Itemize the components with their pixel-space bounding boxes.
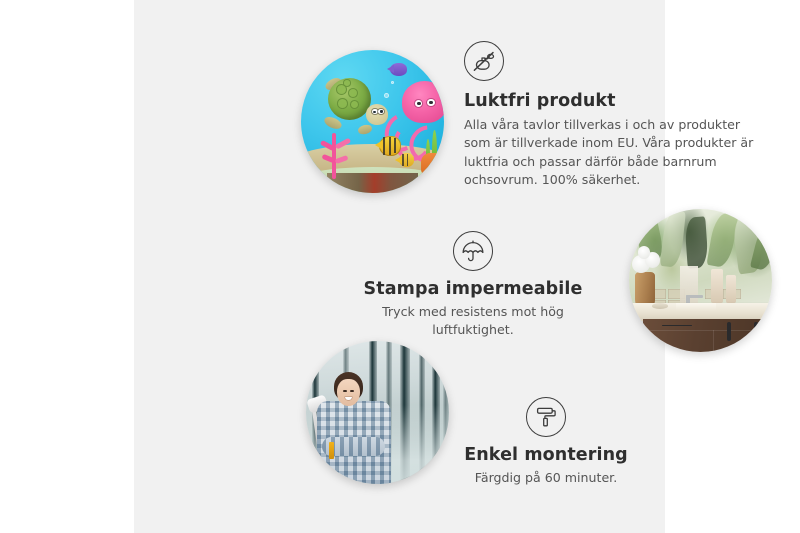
drawer-handle[interactable] [662,325,692,326]
feature-description: Tryck med resistens mot hög luftfuktighe… [340,303,606,340]
starfish-icon [421,153,444,176]
feature-title: Enkel montering [432,445,660,465]
product-image-forest [306,341,449,484]
feature-description: Färgdig på 60 minuter. [432,469,660,487]
soap-dish [652,303,668,309]
feature-title: Stampa impermeabile [340,279,606,299]
cabinet-handle[interactable] [754,322,759,340]
sink-basin [676,303,716,312]
soap-bottle [726,275,736,304]
faucet-icon [686,295,703,299]
vanity-cabinet [643,319,772,352]
soap-bottle [711,269,724,303]
content-panel: Luktfri produkt Alla våra tavlor tillver… [134,0,665,533]
turtle-icon [324,74,390,131]
person-figure [312,372,398,484]
hand-tool [329,442,334,460]
umbrella-icon [453,231,493,271]
product-image-bathroom [629,209,772,352]
promo-banner: Luktfri produkt Alla våra tavlor tillver… [0,0,800,533]
feature-description: Alla våra tavlor tillverkas i och av pro… [464,116,764,189]
feature-title: Luktfri produkt [464,91,764,111]
cabinet-handle[interactable] [727,322,732,340]
face [337,379,359,406]
paint-roller-icon [526,397,566,437]
no-fragrance-spray-bottle-icon [464,41,504,81]
coral-icon [318,133,355,179]
feature-easy-install: Enkel montering Färgdig på 60 minuter. [432,397,660,487]
feature-waterproof: Stampa impermeabile Tryck med resistens … [340,231,606,340]
feature-odourless: Luktfri produkt Alla våra tavlor tillver… [464,41,764,189]
fish-icon [395,153,414,167]
fish-icon [387,63,407,76]
product-image-ocean [301,50,444,193]
